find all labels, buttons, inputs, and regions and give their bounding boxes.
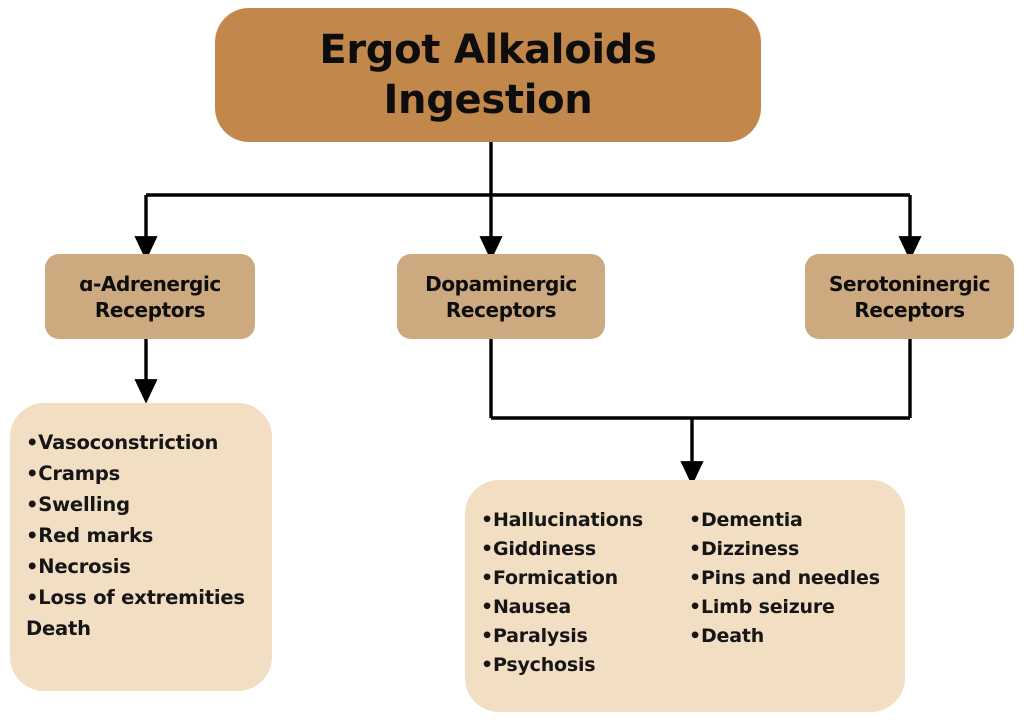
bullet-icon: • xyxy=(481,596,493,618)
node-label: ɑ-Adrenergic Receptors xyxy=(75,271,225,323)
bullet-icon: • xyxy=(26,431,38,454)
bullet-icon: • xyxy=(481,625,493,647)
node-label: Serotoninergic Receptors xyxy=(825,271,994,323)
bullet-icon: • xyxy=(26,586,38,609)
list-item-label: Giddiness xyxy=(493,538,596,560)
bullet-icon: • xyxy=(689,625,701,647)
list-item: •Nausea xyxy=(481,593,689,622)
list-item: •Formication xyxy=(481,564,689,593)
list-item-label: Dizziness xyxy=(701,538,799,560)
node-ergot-alkaloids-ingestion[interactable]: Ergot Alkaloids Ingestion xyxy=(215,8,761,142)
receptor-line-2: Receptors xyxy=(79,297,221,323)
list-item: •Psychosis xyxy=(481,651,689,680)
list-item-label: Red marks xyxy=(38,524,153,547)
bullet-icon: • xyxy=(481,509,493,531)
list-item-label: Vasoconstriction xyxy=(38,431,218,454)
list-item-label: Limb seizure xyxy=(701,596,835,618)
node-alpha-adrenergic-receptors[interactable]: ɑ-Adrenergic Receptors xyxy=(45,254,255,339)
node-label: Dopaminergic Receptors xyxy=(421,271,581,323)
list-item: •Swelling xyxy=(26,489,234,520)
effects-column-left: •Hallucinations•Giddiness•Formication•Na… xyxy=(481,506,689,712)
receptor-line-1: Dopaminergic xyxy=(425,271,577,297)
list-item: •Loss of extremities xyxy=(26,582,234,613)
list-item-label: Loss of extremities xyxy=(38,586,245,609)
list-item: •Dementia xyxy=(689,506,899,535)
bullet-icon: • xyxy=(481,538,493,560)
list-item-label: Swelling xyxy=(38,493,130,516)
effects-column-right: •Dementia•Dizziness•Pins and needles•Lim… xyxy=(689,506,899,712)
list-item-label: Psychosis xyxy=(493,654,595,676)
list-item-label: Paralysis xyxy=(493,625,588,647)
list-item: •Paralysis xyxy=(481,622,689,651)
bullet-icon: • xyxy=(689,509,701,531)
page-title: Ergot Alkaloids Ingestion xyxy=(295,25,680,125)
list-item-label: Hallucinations xyxy=(493,509,643,531)
receptor-line-1: Serotoninergic xyxy=(829,271,990,297)
list-item: •Dizziness xyxy=(689,535,899,564)
node-adrenergic-effects-list[interactable]: •Vasoconstriction•Cramps•Swelling•Red ma… xyxy=(10,403,272,691)
node-neuro-effects-list[interactable]: •Hallucinations•Giddiness•Formication•Na… xyxy=(465,480,905,712)
list-item-label: Death xyxy=(701,625,764,647)
list-item: •Cramps xyxy=(26,458,234,489)
node-serotoninergic-receptors[interactable]: Serotoninergic Receptors xyxy=(805,254,1014,339)
list-item: •Limb seizure xyxy=(689,593,899,622)
bullet-icon: • xyxy=(26,524,38,547)
list-item: •Pins and needles xyxy=(689,564,899,593)
list-item-label: Necrosis xyxy=(38,555,130,578)
list-item: •Giddiness xyxy=(481,535,689,564)
bullet-icon: • xyxy=(481,654,493,676)
list-item: •Necrosis xyxy=(26,551,234,582)
list-item-label: Dementia xyxy=(701,509,803,531)
list-item-label: Nausea xyxy=(493,596,571,618)
list-item: •Vasoconstriction xyxy=(26,427,234,458)
list-item-label: Pins and needles xyxy=(701,567,880,589)
title-line-2: Ingestion xyxy=(319,75,656,125)
list-item: Death xyxy=(26,613,234,644)
bullet-icon: • xyxy=(26,555,38,578)
list-item-label: Death xyxy=(26,617,91,640)
list-item-label: Cramps xyxy=(38,462,120,485)
bullet-icon: • xyxy=(689,567,701,589)
node-dopaminergic-receptors[interactable]: Dopaminergic Receptors xyxy=(397,254,605,339)
bullet-icon: • xyxy=(26,493,38,516)
receptor-line-1: ɑ-Adrenergic xyxy=(79,271,221,297)
bullet-icon: • xyxy=(689,538,701,560)
bullet-icon: • xyxy=(689,596,701,618)
bullet-icon: • xyxy=(26,462,38,485)
effects-column: •Vasoconstriction•Cramps•Swelling•Red ma… xyxy=(26,427,234,644)
list-item: •Hallucinations xyxy=(481,506,689,535)
bullet-icon: • xyxy=(481,567,493,589)
list-item-label: Formication xyxy=(493,567,618,589)
list-item: •Red marks xyxy=(26,520,234,551)
title-line-1: Ergot Alkaloids xyxy=(319,25,656,75)
list-item: •Death xyxy=(689,622,899,651)
receptor-line-2: Receptors xyxy=(425,297,577,323)
receptor-line-2: Receptors xyxy=(829,297,990,323)
flowchart-diagram: Ergot Alkaloids Ingestion ɑ-Adrenergic R… xyxy=(0,0,1024,728)
